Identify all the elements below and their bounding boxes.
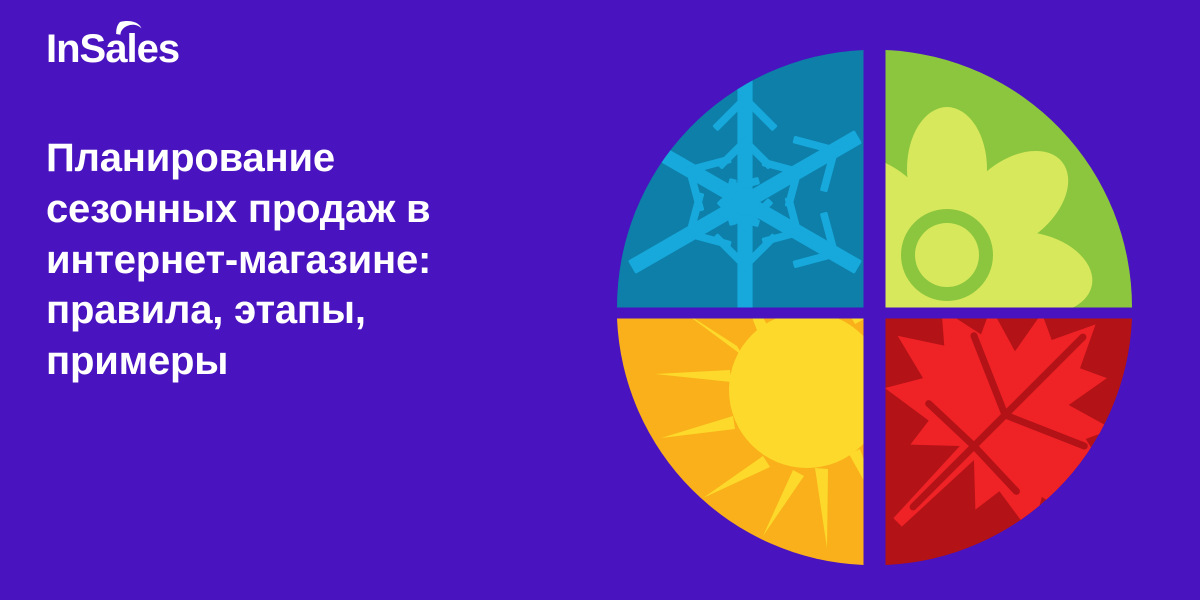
four-seasons-illustration — [617, 50, 1132, 565]
logo-wordmark: InSales — [46, 27, 179, 71]
page-title: Планирование сезонных продаж в интернет-… — [46, 133, 556, 387]
quadrant-winter — [617, 50, 881, 333]
insales-logo[interactable]: InSales — [46, 18, 286, 74]
promo-banner: InSales Планирование сезонных продаж в и… — [0, 0, 1200, 600]
